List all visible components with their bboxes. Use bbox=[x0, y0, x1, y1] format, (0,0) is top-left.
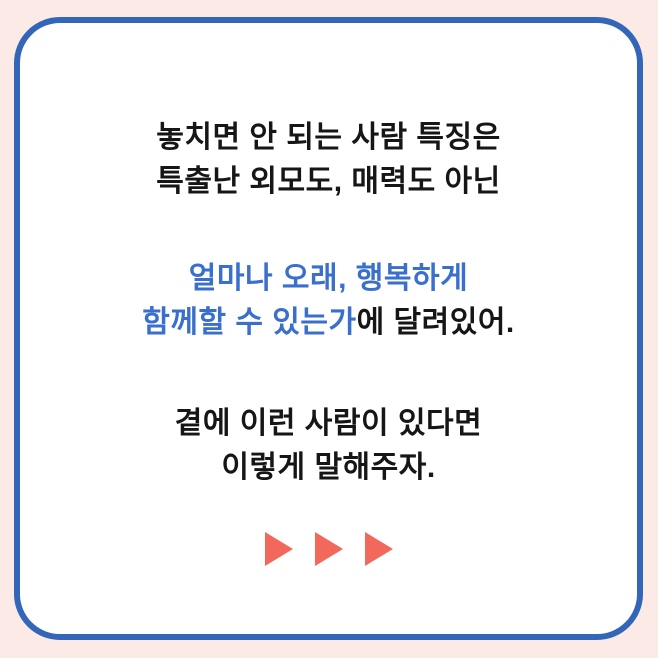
quote-content: 놓치면 안 되는 사람 특징은 특출난 외모도, 매력도 아닌 얼마나 오래, … bbox=[20, 23, 637, 566]
stanza-closing: 곁에 이런 사람이 있다면 이렇게 말해주자. bbox=[54, 402, 603, 490]
quote-line-1: 놓치면 안 되는 사람 특징은 bbox=[54, 116, 603, 160]
quote-line-5: 곁에 이런 사람이 있다면 bbox=[54, 402, 603, 446]
card-canvas: 놓치면 안 되는 사람 특징은 특출난 외모도, 매력도 아닌 얼마나 오래, … bbox=[0, 0, 658, 658]
quote-line-2: 특출난 외모도, 매력도 아닌 bbox=[54, 160, 603, 204]
play-triangle-icon bbox=[265, 532, 293, 566]
next-arrows-row bbox=[265, 532, 393, 566]
quote-line-4: 함께할 수 있는가에 달려있어. bbox=[54, 301, 603, 345]
quote-line-6: 이렇게 말해주자. bbox=[54, 446, 603, 490]
play-triangle-icon bbox=[365, 532, 393, 566]
quote-line-4-plain-segment: 에 달려있어. bbox=[357, 306, 515, 339]
quote-card-frame: 놓치면 안 되는 사람 특징은 특출난 외모도, 매력도 아닌 얼마나 오래, … bbox=[14, 17, 643, 640]
play-triangle-icon bbox=[315, 532, 343, 566]
stanza-intro: 놓치면 안 되는 사람 특징은 특출난 외모도, 매력도 아닌 bbox=[54, 116, 603, 204]
stanza-highlight: 얼마나 오래, 행복하게 함께할 수 있는가에 달려있어. bbox=[54, 257, 603, 345]
quote-line-3: 얼마나 오래, 행복하게 bbox=[54, 257, 603, 301]
quote-line-4-accent-segment: 함께할 수 있는가 bbox=[142, 306, 356, 339]
